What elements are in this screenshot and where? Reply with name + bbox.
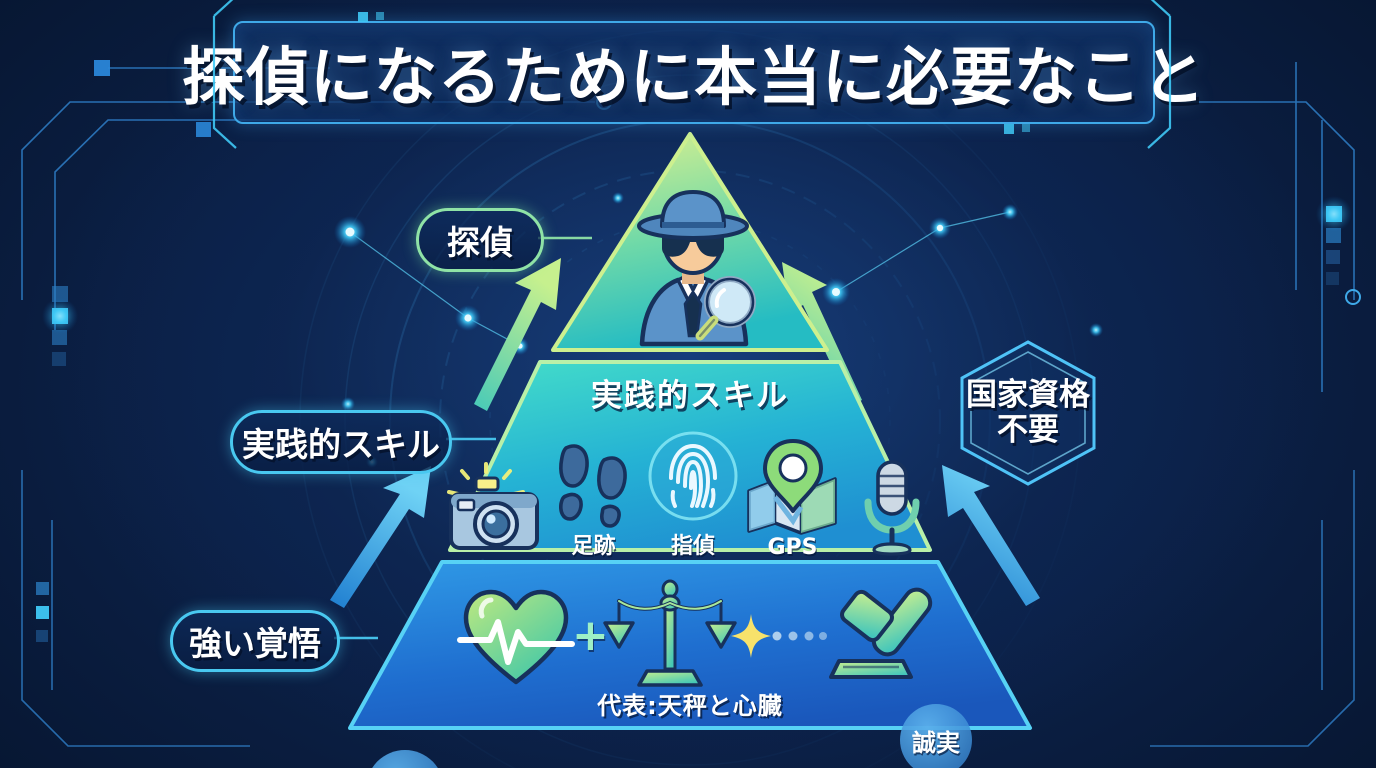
detective-icon [618,186,768,346]
callout-label: 実践的スキル [242,418,440,466]
fingerprint-icon [645,430,741,526]
dots-icon [771,629,827,643]
chip-sincerity-top[interactable]: 誠実 [900,704,972,768]
page-title: 探偵になるために本当に必要なこと [182,27,1206,118]
glow-squares-right [1316,196,1360,304]
plus-icon: + [572,614,609,658]
base-icon-row: + [460,584,930,688]
scales-icon [609,581,731,691]
skill-gps[interactable]: GPS [747,437,839,560]
skill-camera[interactable] [448,466,540,560]
gavel-icon [827,583,943,689]
footprints-icon [554,434,634,526]
callout-practical-skills[interactable]: 実践的スキル [230,410,452,474]
callout-label: 探偵 [447,216,513,264]
skill-microphone[interactable] [846,458,938,560]
callout-detective[interactable]: 探偵 [416,208,544,272]
skills-heading: 実践的スキル [330,370,1050,415]
skill-footprints[interactable]: 足跡 [548,434,640,560]
camera-icon [446,466,542,558]
circuit-bottom-left [22,470,250,746]
glow-squares-bottom-left [36,582,49,642]
skill-fingerprint[interactable]: 指偵 [647,430,739,560]
infographic-canvas: 実践的スキル [0,0,1376,768]
skills-icon-row: 足跡 [448,430,938,560]
circuit-top-right [1180,62,1354,392]
chip-ethics[interactable]: 倫理 [366,750,444,768]
badge-line-1: 国家資格 [966,378,1090,413]
badge-no-license-required[interactable]: 国家資格 不要 [952,338,1104,488]
callout-strong-resolve[interactable]: 強い覚悟 [170,610,340,672]
title-banner: 探偵になるために本当に必要なこと [233,21,1155,124]
microphone-icon [856,458,928,558]
map-pin-icon [743,437,843,533]
sparkle-icon [731,614,771,658]
callout-label: 強い覚悟 [189,617,321,665]
circuit-bottom-right [1150,470,1354,746]
chip-label: 誠実 [912,723,960,758]
glow-squares-left [42,286,78,366]
badge-line-2: 不要 [997,413,1059,448]
heart-pulse-icon [460,586,572,686]
